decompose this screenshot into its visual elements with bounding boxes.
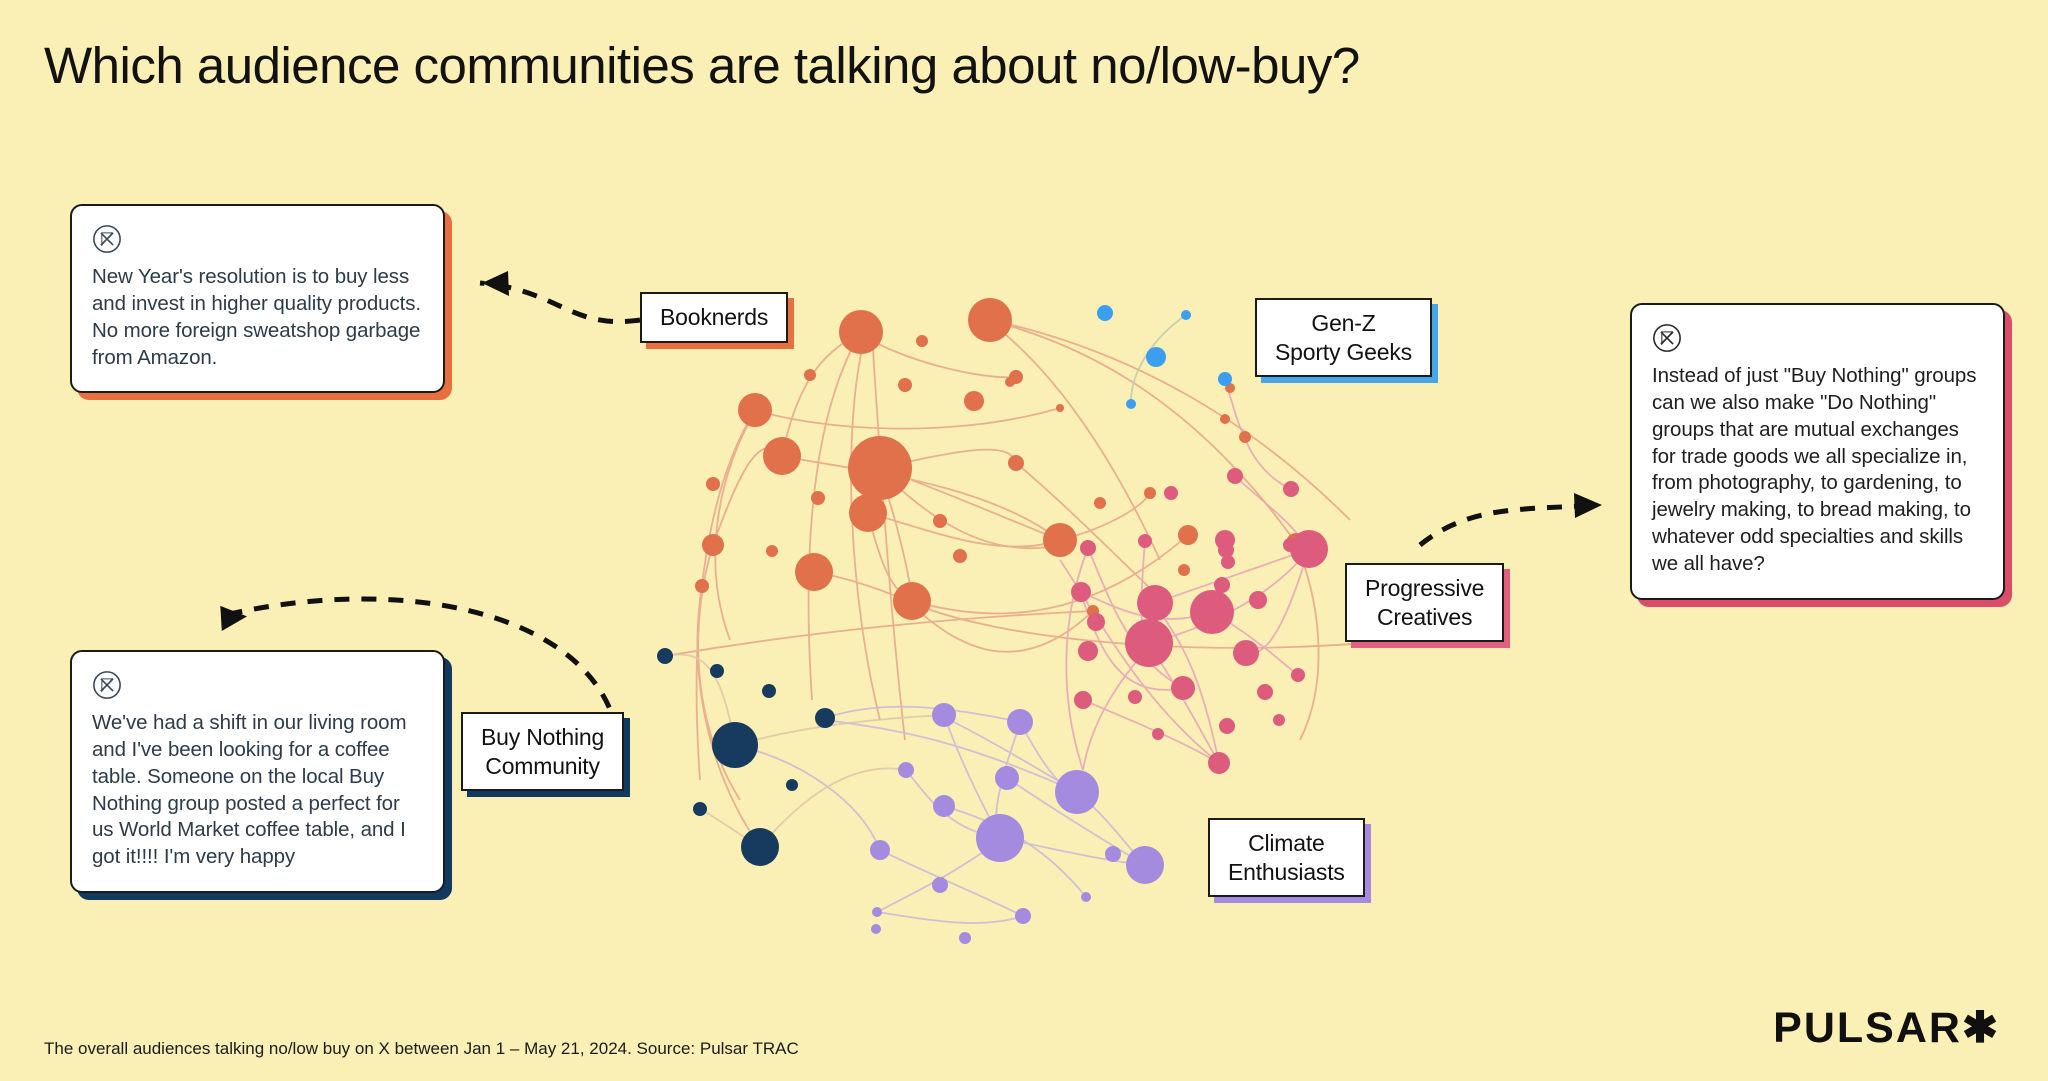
graph-cluster-buy-nothing-community: [657, 648, 835, 866]
graph-node: [1286, 533, 1306, 553]
graph-node: [766, 545, 778, 557]
graph-node: [933, 795, 955, 817]
graph-node: [932, 703, 956, 727]
graph-node: [848, 436, 912, 500]
graph-node: [1221, 555, 1235, 569]
graph-node: [1007, 709, 1033, 735]
community-label-genz[interactable]: Gen-Z Sporty Geeks: [1255, 298, 1432, 377]
graph-node: [1128, 690, 1142, 704]
graph-node: [872, 907, 882, 917]
graph-node: [964, 391, 984, 411]
graph-node: [932, 877, 948, 893]
graph-node: [1283, 538, 1297, 552]
graph-node: [1215, 530, 1235, 550]
community-label-booknerds[interactable]: Booknerds: [640, 292, 788, 343]
graph-node: [1087, 613, 1105, 631]
graph-node: [1151, 589, 1163, 601]
graph-node: [1233, 640, 1259, 666]
graph-node: [1283, 481, 1299, 497]
graph-node: [804, 369, 816, 381]
graph-edges-genz: [1131, 315, 1186, 404]
graph-node: [1043, 523, 1077, 557]
graph-node: [1307, 544, 1323, 560]
graph-node: [898, 762, 914, 778]
graph-node: [695, 579, 709, 593]
graph-node: [1178, 564, 1190, 576]
graph-node: [1144, 487, 1156, 499]
x-logo-icon: [92, 670, 122, 700]
pulsar-logo: PULSAR✱: [1773, 1003, 2000, 1053]
graph-node: [1005, 377, 1015, 387]
graph-node: [702, 534, 724, 556]
graph-node: [1097, 305, 1113, 321]
graph-node: [1071, 582, 1091, 602]
graph-node: [693, 802, 707, 816]
graph-node: [1152, 728, 1164, 740]
arrow-booknerds-to-tweet: [480, 283, 640, 322]
graph-node: [1015, 908, 1031, 924]
graph-node: [871, 924, 881, 934]
graph-node: [1080, 540, 1096, 556]
graph-node: [1178, 525, 1198, 545]
graph-node: [959, 932, 971, 944]
x-logo-icon: [92, 224, 122, 254]
arrowhead-buynothing: [218, 602, 248, 631]
graph-node: [870, 840, 890, 860]
graph-node: [1094, 497, 1106, 509]
graph-node: [1218, 542, 1234, 558]
graph-node: [811, 491, 825, 505]
graph-node: [953, 549, 967, 563]
graph-node: [1218, 372, 1232, 386]
arrow-progressive-to-tweet: [1420, 505, 1600, 545]
graph-node: [1056, 404, 1064, 412]
graph-node: [706, 477, 720, 491]
community-label-climate[interactable]: Climate Enthusiasts: [1208, 818, 1365, 897]
graph-edges-booknerds: [665, 320, 1400, 847]
graph-node: [1125, 619, 1173, 667]
community-label-progressive[interactable]: Progressive Creatives: [1345, 563, 1504, 642]
graph-node: [657, 648, 673, 664]
graph-node: [786, 779, 798, 791]
graph-node: [1055, 770, 1099, 814]
tweet-text: Instead of just "Buy Nothing" groups can…: [1652, 363, 1983, 578]
graph-node: [1078, 641, 1098, 661]
graph-node: [933, 514, 947, 528]
x-logo-icon: [1652, 323, 1682, 353]
graph-node: [1105, 846, 1121, 862]
graph-node: [839, 310, 883, 354]
graph-cluster-climate-enthusiasts: [870, 703, 1164, 944]
community-label-buy-nothing[interactable]: Buy Nothing Community: [461, 712, 624, 791]
graph-node: [1171, 676, 1195, 700]
graph-node: [815, 708, 835, 728]
graph-node: [1273, 714, 1285, 726]
graph-node: [1126, 846, 1164, 884]
graph-node: [710, 664, 724, 678]
graph-node: [1196, 594, 1230, 628]
graph-node: [1257, 684, 1273, 700]
graph-cluster-progressive-creatives: [1071, 468, 1328, 774]
graph-cluster-booknerds: [695, 298, 1306, 620]
graph-node: [1291, 668, 1305, 682]
graph-node: [1220, 414, 1230, 424]
graph-node: [968, 298, 1012, 342]
graph-node: [1219, 718, 1235, 734]
graph-node: [1074, 691, 1092, 709]
graph-node: [976, 814, 1024, 862]
graph-node: [741, 828, 779, 866]
tweet-card-bottom-left[interactable]: We've had a shift in our living room and…: [70, 650, 445, 893]
graph-node: [1164, 486, 1178, 500]
graph-node: [1208, 752, 1230, 774]
graph-node: [762, 684, 776, 698]
tweet-text: New Year's resolution is to buy less and…: [92, 264, 423, 371]
arrowhead-progressive: [1574, 493, 1602, 518]
graph-node: [1087, 605, 1099, 617]
graph-node: [1146, 347, 1166, 367]
graph-node: [1181, 310, 1191, 320]
graph-node: [1214, 577, 1230, 593]
page-title: Which audience communities are talking a…: [44, 36, 1360, 95]
graph-node: [898, 378, 912, 392]
graph-node: [1239, 431, 1251, 443]
graph-node: [1081, 892, 1091, 902]
graph-cluster-gen-z-sporty-geeks: [1097, 305, 1232, 409]
graph-node: [1009, 370, 1023, 384]
graph-edges-buynothing: [665, 655, 944, 847]
tweet-card-top-left[interactable]: New Year's resolution is to buy less and…: [70, 204, 445, 393]
tweet-text: We've had a shift in our living room and…: [92, 710, 423, 871]
graph-node: [712, 722, 758, 768]
graph-node: [849, 494, 887, 532]
arrowhead-booknerds: [482, 271, 509, 296]
graph-node: [1138, 534, 1152, 548]
graph-node: [1190, 590, 1234, 634]
graph-node: [1290, 530, 1328, 568]
tweet-card-right[interactable]: Instead of just "Buy Nothing" groups can…: [1630, 303, 2005, 600]
graph-node: [1137, 585, 1173, 621]
footnote: The overall audiences talking no/low buy…: [44, 1039, 799, 1059]
graph-node: [763, 437, 801, 475]
graph-edges-climate: [735, 707, 1145, 923]
graph-node: [916, 335, 928, 347]
graph-node: [1225, 383, 1235, 393]
graph-node: [1008, 455, 1024, 471]
graph-node: [1249, 591, 1267, 609]
graph-edges-progressive: [1060, 379, 1309, 770]
graph-node: [738, 393, 772, 427]
graph-node: [1126, 399, 1136, 409]
graph-node: [893, 582, 931, 620]
graph-node: [1227, 468, 1243, 484]
graph-node: [995, 766, 1019, 790]
graph-node: [795, 553, 833, 591]
